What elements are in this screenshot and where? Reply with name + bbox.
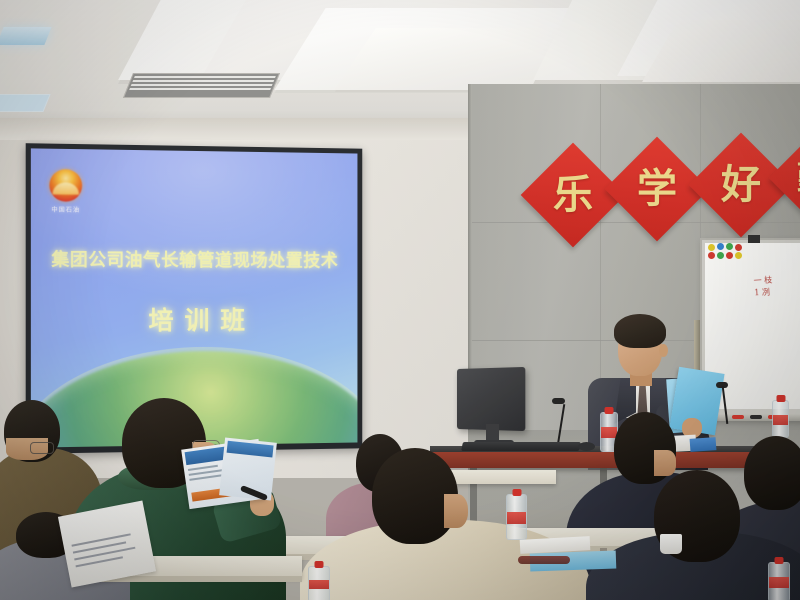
bottle-cap xyxy=(315,561,324,568)
slide-subtitle: 培训班 xyxy=(31,301,358,338)
wall-soffit xyxy=(0,118,470,140)
water-bottle xyxy=(506,494,527,540)
water-bottle xyxy=(768,562,790,600)
magnet-icon xyxy=(708,252,715,259)
bottle-label xyxy=(773,415,788,425)
magnet-icon xyxy=(735,244,742,251)
lcd-monitor xyxy=(457,367,525,431)
banner-character: 乐 xyxy=(536,158,610,232)
presenter-ear xyxy=(659,344,668,357)
bottle-label xyxy=(507,512,526,524)
magnet-icon xyxy=(735,252,742,259)
brochure-header-band xyxy=(227,441,274,458)
petrochina-sun-emblem-icon xyxy=(49,169,82,202)
attendee-face xyxy=(444,494,468,528)
recessed-grille-light-icon xyxy=(123,73,280,98)
seminar-photo: 乐 学 好 勤 中国石油 集团公司油气长输管道现场处置技术 培训班 一 枝 xyxy=(0,0,800,600)
bottle-label xyxy=(309,580,329,590)
magnet-icon xyxy=(708,244,715,251)
whiteboard-handwriting-line: 1 冽 xyxy=(754,285,800,300)
marker-icon xyxy=(750,415,762,419)
bottle-cap xyxy=(512,489,521,496)
whiteboard-clip xyxy=(748,235,760,243)
magnet-icon xyxy=(726,252,733,259)
banner-character: 勤 xyxy=(782,146,800,210)
magnet-icon xyxy=(717,243,724,250)
presenter-hair xyxy=(614,314,666,348)
wall-banner-diamond: 乐 xyxy=(521,143,626,248)
bottle-cap xyxy=(775,557,784,564)
banner-character: 好 xyxy=(704,148,778,222)
water-bottle xyxy=(308,566,330,600)
desk-item xyxy=(518,556,570,564)
magnet-icon xyxy=(717,252,724,259)
magnet-icon xyxy=(726,243,733,250)
slide-title: 集团公司油气长输管道现场处置技术 xyxy=(31,246,358,272)
petrochina-logo-text: 中国石油 xyxy=(47,205,84,214)
fluorescent-panel-light-icon xyxy=(0,27,52,45)
marker-icon xyxy=(732,415,744,419)
whiteboard-handwriting: 一 枝 1 冽 xyxy=(753,273,800,300)
bottle-cap xyxy=(776,395,785,402)
paper-cup xyxy=(660,534,682,554)
glasses-icon xyxy=(30,442,54,454)
petrochina-logo-icon: 中国石油 xyxy=(47,169,84,218)
bottle-label xyxy=(769,577,789,588)
banner-character: 学 xyxy=(620,152,694,226)
